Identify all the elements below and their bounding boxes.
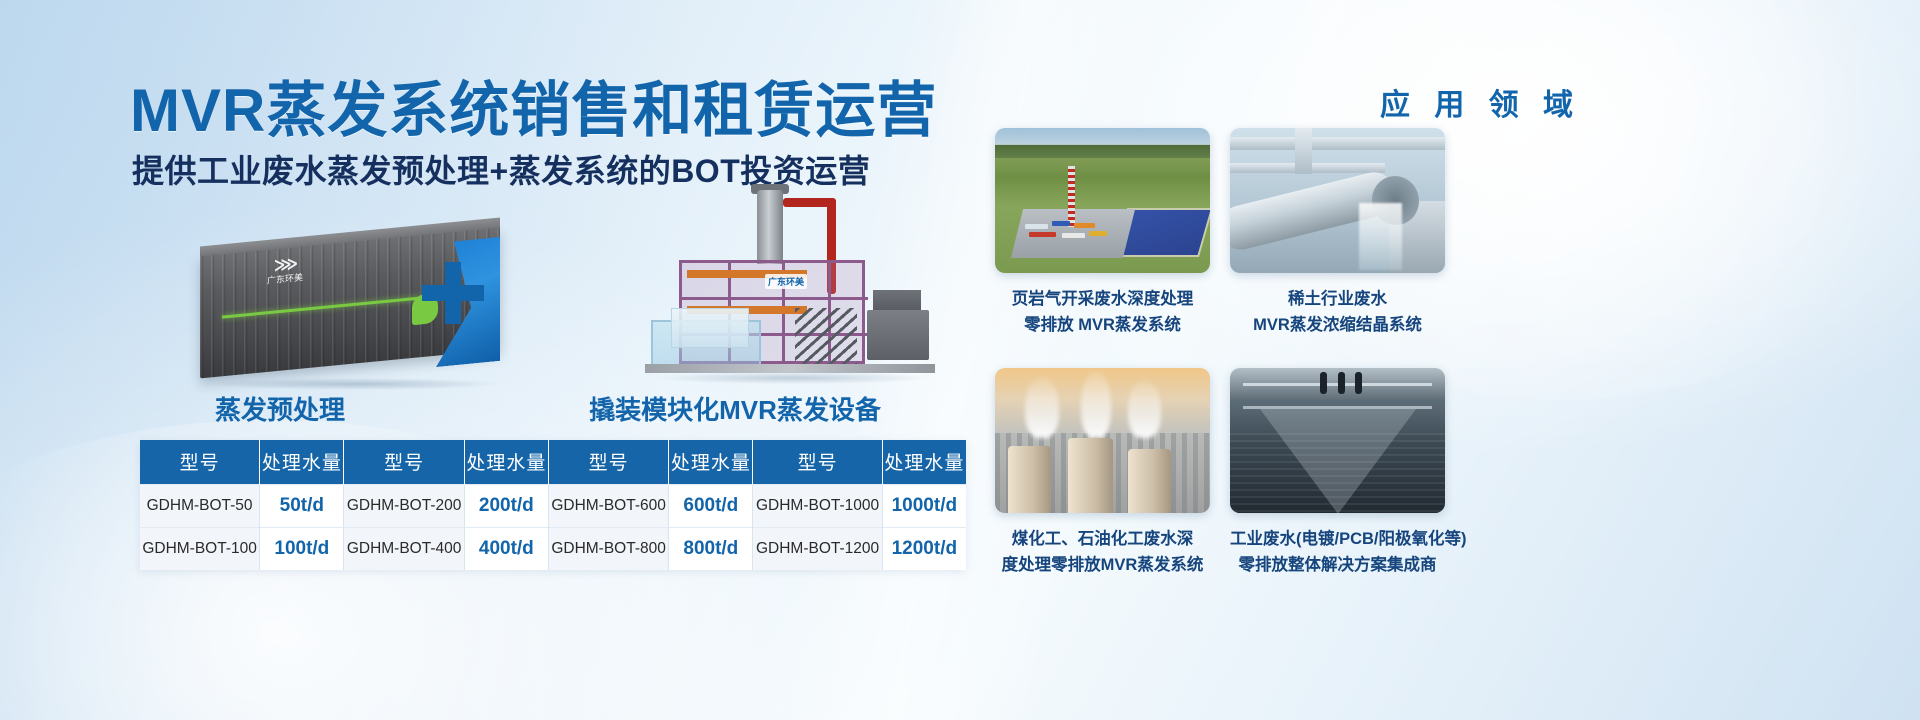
table-cell-model: GDHM-BOT-1000 (753, 484, 882, 527)
application-card[interactable]: 煤化工、石油化工废水深 度处理零排放MVR蒸发系统 (995, 368, 1210, 578)
table-cell-model: GDHM-BOT-1200 (753, 527, 882, 570)
caption-line-2: 零排放整体解决方案集成商 (1230, 553, 1445, 579)
skid-base (645, 364, 935, 373)
table-header-cell: 型号 (344, 440, 464, 484)
aeration-tank-photo (1230, 368, 1445, 513)
table-row: GDHM-BOT-50 50t/d GDHM-BOT-200 200t/d GD… (140, 484, 966, 527)
shale-gas-field-photo (995, 128, 1210, 273)
skid-mvr-equipment-image: 广东环美 (645, 190, 945, 395)
table-cell-capacity: 800t/d (669, 527, 753, 570)
application-card[interactable]: 工业废水(电镀/PCB/阳极氧化等) 零排放整体解决方案集成商 (1230, 368, 1445, 578)
table-cell-capacity: 400t/d (464, 527, 548, 570)
table-cell-capacity: 100t/d (260, 527, 344, 570)
application-card-caption: 煤化工、石油化工废水深 度处理零排放MVR蒸发系统 (995, 527, 1210, 578)
applications-section: 应 用 领 域 (985, 0, 1920, 720)
application-card-caption: 工业废水(电镀/PCB/阳极氧化等) 零排放整体解决方案集成商 (1230, 527, 1445, 578)
caption-line-1: 煤化工、石油化工废水深 (1012, 530, 1194, 548)
application-card-caption: 页岩气开采废水深度处理 零排放 MVR蒸发系统 (995, 287, 1210, 338)
skid-stairs (795, 308, 857, 366)
page-title: MVR蒸发系统销售和租赁运营 (130, 62, 937, 149)
table-header-cell: 处理水量 (882, 440, 966, 484)
skid-control-box (867, 310, 929, 360)
table-cell-model: GDHM-BOT-100 (140, 527, 260, 570)
container-shadow (210, 378, 500, 390)
caption-line-2: 零排放 MVR蒸发系统 (995, 313, 1210, 339)
table-header-cell: 型号 (753, 440, 882, 484)
table-cell-capacity: 200t/d (464, 484, 548, 527)
coal-chemical-plant-photo (995, 368, 1210, 513)
table-header-cell: 型号 (548, 440, 668, 484)
left-section: MVR蒸发系统销售和租赁运营 提供工业废水蒸发预处理+蒸发系统的BOT投资运营 … (0, 0, 990, 720)
table-cell-capacity: 50t/d (260, 484, 344, 527)
table-row: GDHM-BOT-100 100t/d GDHM-BOT-400 400t/d … (140, 527, 966, 570)
caption-line-1: 工业废水(电镀/PCB/阳极氧化等) (1230, 530, 1467, 548)
caption-line-2: MVR蒸发浓缩结晶系统 (1230, 313, 1445, 339)
caption-line-2: 度处理零排放MVR蒸发系统 (995, 553, 1210, 579)
discharge-pipe-photo (1230, 128, 1445, 273)
skid-tank-inner (671, 308, 749, 348)
applications-title: 应 用 领 域 (1380, 80, 1581, 124)
table-cell-model: GDHM-BOT-400 (344, 527, 464, 570)
table-cell-model: GDHM-BOT-50 (140, 484, 260, 527)
skid-shadow (655, 372, 927, 384)
container-brand-logo: ⋙ 广东环美 (252, 253, 318, 289)
table-cell-capacity: 1000t/d (882, 484, 966, 527)
caption-line-1: 稀土行业废水 (1288, 290, 1387, 308)
plus-icon (422, 262, 484, 324)
table-header-cell: 处理水量 (669, 440, 753, 484)
spec-table: 型号 处理水量 型号 处理水量 型号 处理水量 型号 处理水量 GDHM-BOT… (140, 440, 966, 570)
table-cell-capacity: 1200t/d (882, 527, 966, 570)
table-cell-model: GDHM-BOT-200 (344, 484, 464, 527)
table-header-cell: 型号 (140, 440, 260, 484)
application-card-caption: 稀土行业废水 MVR蒸发浓缩结晶系统 (1230, 287, 1445, 338)
promo-banner: MVR蒸发系统销售和租赁运营 提供工业废水蒸发预处理+蒸发系统的BOT投资运营 … (0, 0, 1920, 720)
application-card[interactable]: 稀土行业废水 MVR蒸发浓缩结晶系统 (1230, 128, 1445, 338)
skid-column (757, 190, 783, 264)
product-caption-left: 蒸发预处理 (150, 390, 410, 427)
table-header-cell: 处理水量 (260, 440, 344, 484)
table-cell-capacity: 600t/d (669, 484, 753, 527)
table-cell-model: GDHM-BOT-600 (548, 484, 668, 527)
application-card[interactable]: 页岩气开采废水深度处理 零排放 MVR蒸发系统 (995, 128, 1210, 338)
table-header-row: 型号 处理水量 型号 处理水量 型号 处理水量 型号 处理水量 (140, 440, 966, 484)
skid-brand-text: 广东环美 (765, 274, 807, 289)
caption-line-1: 页岩气开采废水深度处理 (1012, 290, 1194, 308)
table-header-cell: 处理水量 (464, 440, 548, 484)
table-cell-model: GDHM-BOT-800 (548, 527, 668, 570)
product-caption-right: 撬装模块化MVR蒸发设备 (545, 390, 925, 427)
